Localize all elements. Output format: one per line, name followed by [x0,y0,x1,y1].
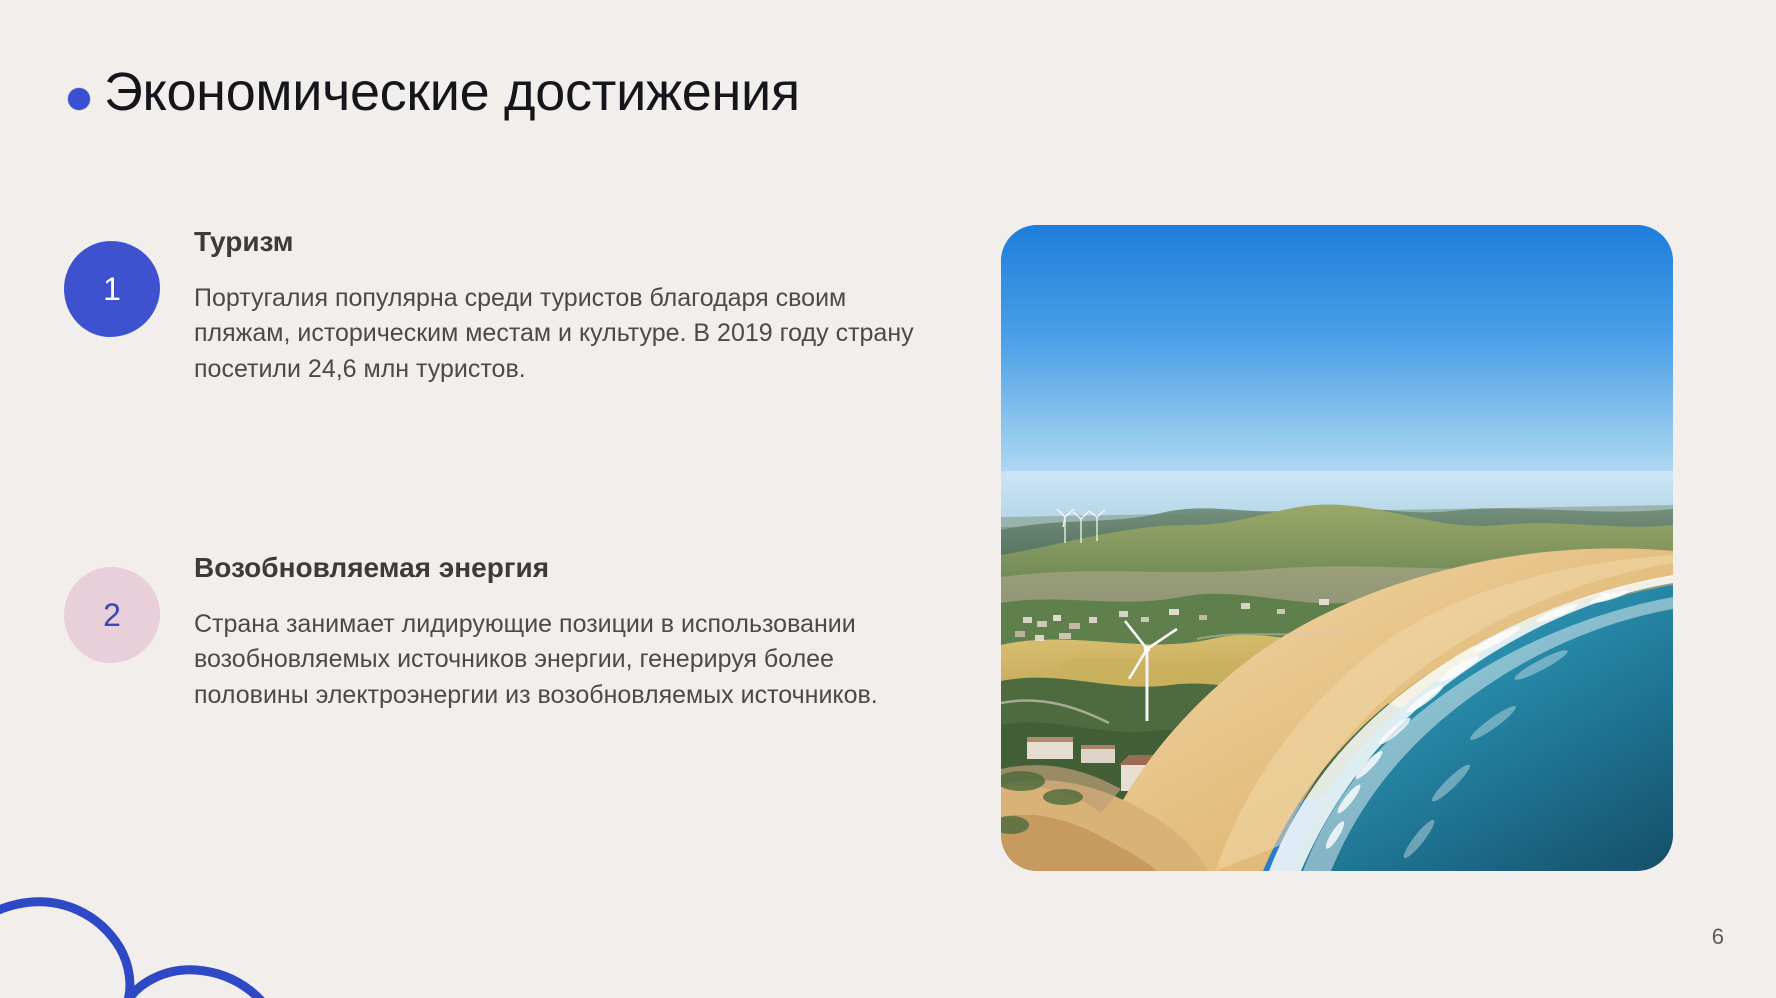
page-title: Экономические достижения [68,62,800,122]
item-text-block: Возобновляемая энергия Страна занимает л… [158,495,914,713]
list-item: 1 Туризм Португалия популярна среди тури… [66,225,926,387]
item-body: Страна занимает лидирующие позиции в исп… [194,607,914,714]
item-number-label: 2 [103,597,121,634]
item-heading: Туризм [194,225,914,259]
page-title-text: Экономические достижения [104,62,800,122]
page-number: 6 [1712,924,1724,950]
item-number-badge-1: 1 [66,243,158,335]
coastline-photo-illustration [1001,225,1673,871]
achievements-list: 1 Туризм Португалия популярна среди тури… [66,225,926,713]
item-number-label: 1 [103,271,121,308]
slide-canvas: Экономические достижения 1 Туризм Португ… [0,0,1776,998]
item-number-badge-2: 2 [66,569,158,661]
hand-drawn-cloud-outline-icon [0,790,370,998]
item-body: Португалия популярна среди туристов благ… [194,281,914,388]
item-heading: Возобновляемая энергия [194,551,914,585]
item-text-block: Туризм Португалия популярна среди турист… [158,225,914,387]
coastline-photo [1001,225,1673,871]
list-item: 2 Возобновляемая энергия Страна занимает… [66,495,926,713]
title-bullet-icon [68,88,90,110]
